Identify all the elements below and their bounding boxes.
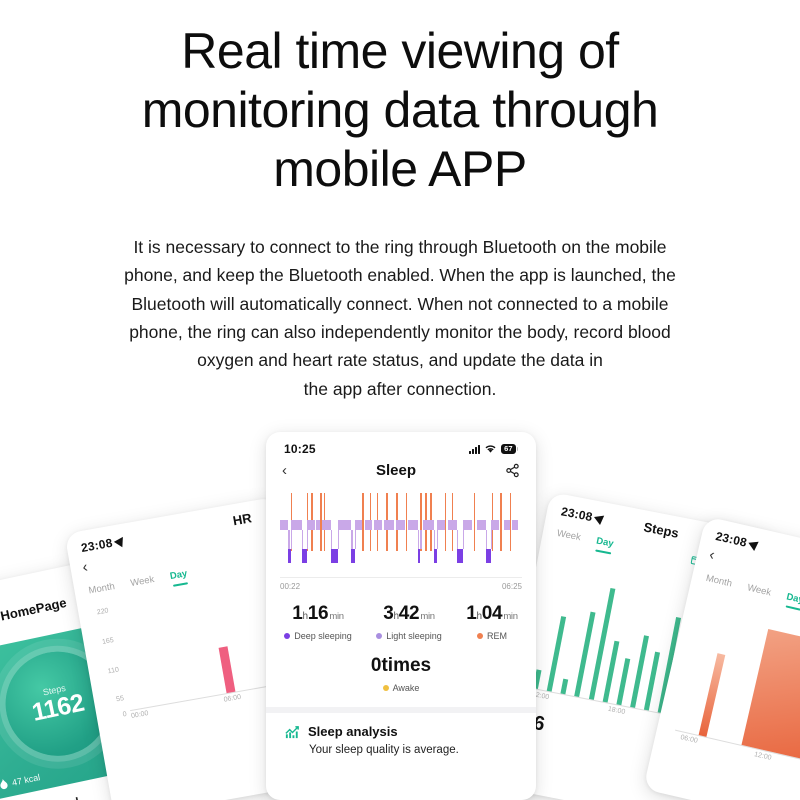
sleep-status-bar: 10:25 67 <box>266 432 536 458</box>
light-min-unit: min <box>420 611 434 622</box>
sleep-time-axis: 00:22 06:25 <box>280 577 522 591</box>
light-hours: 3 <box>383 603 393 624</box>
sleep-connector <box>331 530 332 550</box>
sleep-connector <box>351 530 352 550</box>
steps-bar <box>644 651 660 710</box>
sleep-status-time: 10:25 <box>284 442 316 456</box>
rem-min-unit: min <box>503 611 517 622</box>
hr-ytick-220: 220 <box>96 607 109 616</box>
sleep-connector <box>291 530 292 550</box>
spo2-xtick-1200: 12:00 <box>753 751 772 762</box>
body-line-4: phone, the ring can also independently m… <box>55 318 745 346</box>
light-sleep-segment <box>280 520 288 530</box>
sleep-connector <box>420 530 421 550</box>
spo2-tab-week[interactable]: Week <box>746 582 772 598</box>
rem-spike <box>510 493 512 551</box>
sleep-connector <box>486 530 487 550</box>
sleep-connector <box>302 530 303 550</box>
hr-back-icon[interactable]: ‹ <box>81 558 89 576</box>
location-arrow-icon <box>114 534 127 547</box>
light-sleep-segment <box>338 520 351 530</box>
stat-rem: 1h04min REM <box>466 603 518 641</box>
sleep-stats-row: 1h16min Deep sleeping 3h42min Light slee… <box>266 603 536 641</box>
light-sleep-segment <box>448 520 456 530</box>
awake-value: 0 <box>371 655 382 676</box>
chart-analysis-icon <box>284 723 301 740</box>
flame-icon <box>0 778 9 791</box>
awake-legend-dot <box>383 685 389 691</box>
rem-minutes: 04 <box>482 603 503 624</box>
deep-sleep-segment <box>351 549 355 563</box>
wifi-icon <box>484 444 497 454</box>
rem-spike <box>362 493 364 551</box>
hr-ytick-165: 165 <box>102 637 115 646</box>
spo2-tab-day[interactable]: Day <box>785 591 800 606</box>
stat-light-sleeping: 3h42min Light sleeping <box>376 603 442 641</box>
rem-hours: 1 <box>466 603 476 624</box>
deep-label: Deep sleeping <box>294 631 352 641</box>
hr-xtick-0000: 00:00 <box>131 710 149 720</box>
sleep-title: Sleep <box>376 462 416 479</box>
light-sleep-segment <box>423 520 434 530</box>
sleep-connector <box>338 530 339 550</box>
deep-sleep-segment <box>302 549 307 563</box>
deep-sleep-segment <box>331 549 338 563</box>
sleep-connector <box>355 530 356 550</box>
light-label: Light sleeping <box>386 631 442 641</box>
body-paragraph: It is necessary to connect to the ring t… <box>55 233 745 403</box>
stat-awake: 0times Awake <box>266 655 536 693</box>
hr-ytick-110: 110 <box>107 667 119 676</box>
sleep-connector <box>434 530 435 550</box>
sleep-analysis-title: Sleep analysis <box>308 724 398 739</box>
spo2-bar <box>698 653 725 736</box>
hr-ytick-0: 0 <box>122 711 127 719</box>
kcal-readout: 47 kcal <box>0 771 41 790</box>
steps-bar <box>561 679 569 695</box>
spo2-tab-month[interactable]: Month <box>705 573 733 590</box>
body-line-5: oxygen and heart rate status, and update… <box>55 346 745 374</box>
rem-spike <box>445 493 447 551</box>
steps-location-arrow-icon <box>594 512 607 525</box>
spo2-xtick-0600: 06:00 <box>680 734 699 745</box>
deep-sleep-segment <box>457 549 463 563</box>
steps-bar <box>602 641 619 703</box>
sleep-connector <box>457 530 458 550</box>
sleep-connector <box>463 530 464 550</box>
headline-line-1: Real time viewing of <box>60 22 740 81</box>
signal-bars-icon <box>469 445 481 454</box>
hr-tab-month[interactable]: Month <box>88 581 116 596</box>
deep-hours: 1 <box>292 603 302 624</box>
sleep-axis-start: 00:22 <box>280 582 300 591</box>
light-sleep-segment <box>374 520 381 530</box>
deep-legend-dot <box>284 633 290 639</box>
light-sleep-segment <box>291 520 302 530</box>
awake-label: Awake <box>393 683 420 693</box>
light-sleep-segment <box>504 520 510 530</box>
rem-spike <box>474 493 476 551</box>
spo2-back-icon[interactable]: ‹ <box>708 546 717 564</box>
light-sleep-segment <box>408 520 418 530</box>
spo2-chart: 06:00 12:00 <box>666 597 800 783</box>
battery-icon: 67 <box>501 444 518 455</box>
hr-xtick-0600: 06:00 <box>223 694 241 704</box>
spo2-area <box>741 629 800 768</box>
deep-minutes: 16 <box>308 603 329 624</box>
stat-deep-sleeping: 1h16min Deep sleeping <box>284 603 352 641</box>
rem-label: REM <box>487 631 507 641</box>
sleep-analysis-section[interactable]: Sleep analysis Your sleep quality is ave… <box>266 713 536 756</box>
light-legend-dot <box>376 633 382 639</box>
back-icon[interactable]: ‹ <box>282 462 287 479</box>
light-sleep-segment <box>512 520 518 530</box>
headline-line-3: mobile APP <box>60 140 740 199</box>
sleep-navbar: ‹ Sleep <box>266 458 536 487</box>
hr-tab-week[interactable]: Week <box>130 574 156 589</box>
rem-legend-dot <box>477 633 483 639</box>
spo2-location-arrow-icon <box>748 538 761 551</box>
light-sleep-segment <box>477 520 485 530</box>
steps-tab-day[interactable]: Day <box>595 536 614 550</box>
phone-screenshot-fan: 10:25 ‹ HomePage Steps 1162 10000 47 kca… <box>0 415 800 800</box>
hr-tab-day[interactable]: Day <box>169 568 188 582</box>
deep-sleep-segment <box>486 549 491 563</box>
sleep-connector <box>307 530 308 550</box>
hr-bar <box>219 646 236 693</box>
sleep-phone-card[interactable]: 10:25 67 ‹ Sleep <box>266 432 536 800</box>
awake-unit: times <box>381 655 431 676</box>
body-line-3: Bluetooth will automatically connect. Wh… <box>55 290 745 318</box>
light-sleep-segment <box>384 520 394 530</box>
steps-tab-week[interactable]: Week <box>556 528 582 543</box>
battery-level: 67 <box>501 444 515 455</box>
light-sleep-segment <box>322 520 330 530</box>
sleep-connector <box>288 530 289 550</box>
sleep-status-icons: 67 <box>469 444 518 455</box>
sleep-analysis-subtitle: Your sleep quality is average. <box>309 744 518 756</box>
deep-min-unit: min <box>329 611 343 622</box>
sleep-connector <box>491 530 492 550</box>
deep-sleep-segment <box>418 549 420 563</box>
steps-ring-value: 1162 <box>30 689 87 728</box>
deep-sleep-segment <box>434 549 438 563</box>
hr-ytick-55: 55 <box>116 695 125 703</box>
headline-line-2: monitoring data through <box>60 81 740 140</box>
light-sleep-segment <box>307 520 315 530</box>
body-line-1: It is necessary to connect to the ring t… <box>55 233 745 261</box>
rem-spike <box>320 493 322 551</box>
rem-spike <box>406 493 408 551</box>
kcal-value: 47 kcal <box>11 772 41 788</box>
hr-title: HR <box>232 510 253 528</box>
body-line-6: the app after connection. <box>55 375 745 403</box>
rem-spike <box>500 493 502 551</box>
light-sleep-segment <box>491 520 499 530</box>
steps-bar <box>616 658 630 705</box>
sleep-connector <box>418 530 419 550</box>
share-icon[interactable] <box>505 463 520 478</box>
sleep-axis-end: 06:25 <box>502 582 522 591</box>
light-sleep-segment <box>355 520 362 530</box>
sleep-connector <box>437 530 438 550</box>
light-sleep-segment <box>463 520 473 530</box>
light-sleep-segment <box>365 520 372 530</box>
light-minutes: 42 <box>399 603 420 624</box>
deep-sleep-segment <box>288 549 290 563</box>
page-title: Real time viewing of monitoring data thr… <box>60 22 740 199</box>
leaderboard-label: Leaderboard <box>7 795 81 800</box>
body-line-2: phone, and keep the Bluetooth enabled. W… <box>55 261 745 289</box>
light-sleep-segment <box>396 520 404 530</box>
sleep-stage-chart <box>280 493 522 571</box>
steps-xtick-1800: 18:00 <box>607 706 626 716</box>
light-sleep-segment <box>437 520 444 530</box>
light-sleep-segment <box>316 520 320 530</box>
